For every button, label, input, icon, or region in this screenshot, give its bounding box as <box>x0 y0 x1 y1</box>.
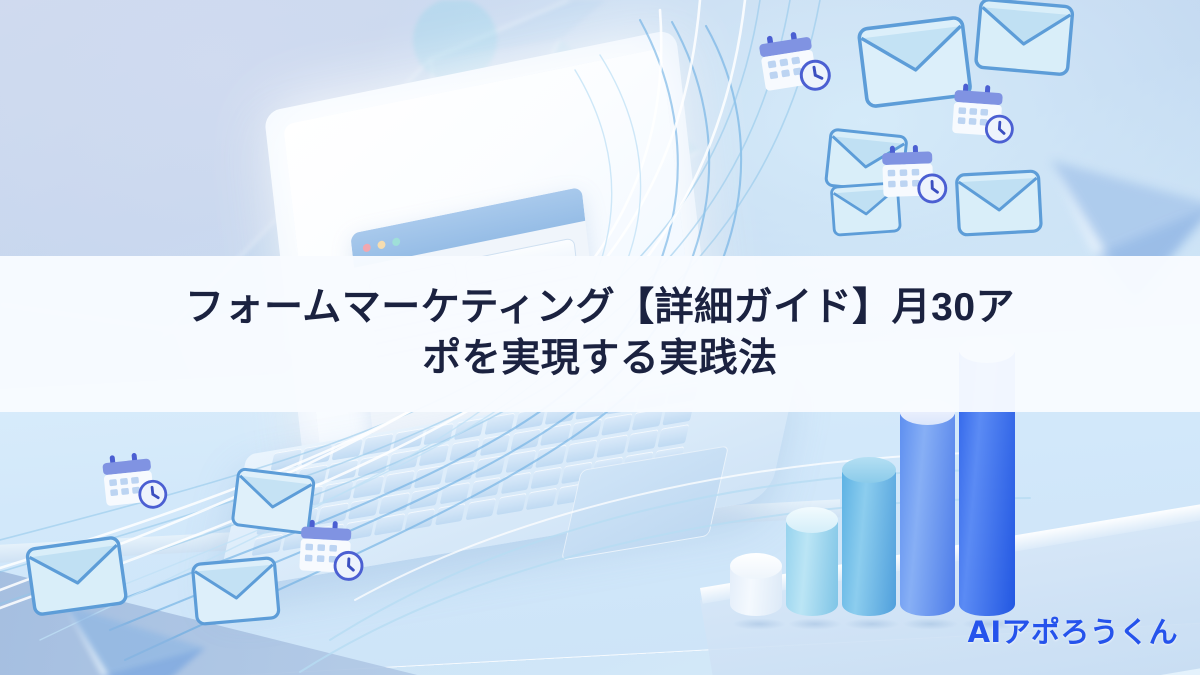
calendar-clock-icon <box>96 446 175 528</box>
brand-logo: AIアポろうくん <box>968 609 1178 651</box>
calendar-clock-icon <box>752 22 842 114</box>
calendar-clock-icon <box>293 516 371 597</box>
calendar-clock-icon <box>945 80 1022 160</box>
page-title-line-2: ポを実現する実践法 <box>422 334 778 385</box>
chart-bar <box>900 399 955 625</box>
envelope-icon <box>23 534 131 624</box>
envelope-icon <box>189 554 283 632</box>
minimize-dot-icon <box>377 240 386 250</box>
envelope-icon <box>972 0 1077 83</box>
page-title-line-1: フォームマーケティング【詳細ガイド】月30ア <box>185 283 1015 334</box>
hero-banner: フォームマーケティング【詳細ガイド】月30ア ポを実現する実践法 AIアポろうく… <box>0 0 1200 675</box>
title-band: フォームマーケティング【詳細ガイド】月30ア ポを実現する実践法 <box>0 256 1200 412</box>
envelope-icon <box>953 168 1045 244</box>
chart-bar <box>842 457 896 625</box>
calendar-clock-icon <box>877 141 954 221</box>
close-dot-icon <box>362 243 371 253</box>
chart-bar <box>730 553 782 625</box>
maximize-dot-icon <box>392 237 401 247</box>
chart-bar <box>786 507 838 625</box>
